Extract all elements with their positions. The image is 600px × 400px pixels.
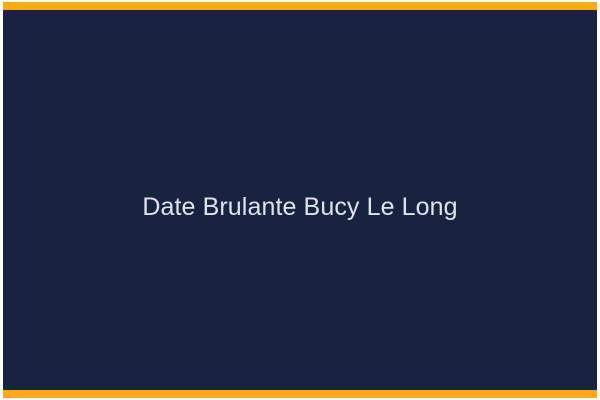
- bottom-accent-bar: [3, 390, 597, 398]
- top-accent-bar: [3, 2, 597, 10]
- content-panel: Date Brulante Bucy Le Long: [3, 10, 597, 390]
- panel-caption: Date Brulante Bucy Le Long: [142, 195, 457, 220]
- placeholder-card: Date Brulante Bucy Le Long: [0, 0, 600, 400]
